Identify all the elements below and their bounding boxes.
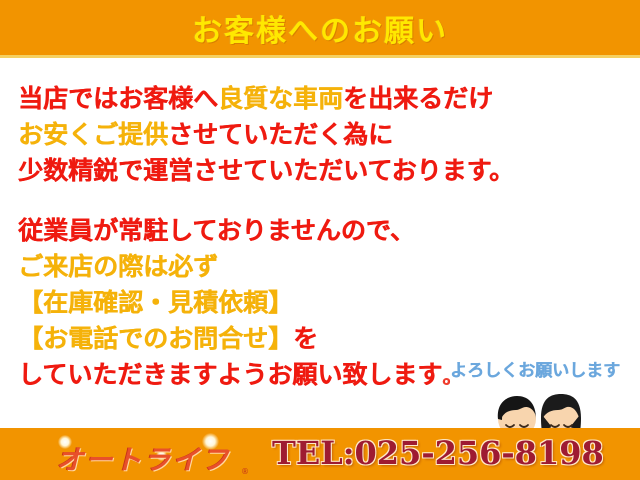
dealer-logo[interactable]: オートライフ ® — [36, 436, 251, 474]
notice-para2-line-5-segment-1: していただきますようお願い致します — [18, 360, 442, 389]
notice-para2-line-2: ご来店の際は必ず — [18, 249, 618, 285]
notice-para1-line-3: 少数精鋭で運営させていただいております。 — [18, 153, 618, 189]
notice-para1-line-2-segment-2: させていただく為に — [168, 120, 393, 149]
notice-para1-line-3-segment-1: 少数精鋭で運営させていただいております。 — [18, 156, 514, 185]
notice-para1-line-2: お安くご提供させていただく為に — [18, 117, 618, 153]
notice-para2-line-1-segment-1: 従業員が常駐しておりませんので、 — [18, 216, 415, 245]
notice-para2-line-1: 従業員が常駐しておりませんので、 — [18, 213, 618, 249]
logo-registered-mark: ® — [241, 467, 249, 476]
notice-para1-line-1-segment-1: 当店ではお客様へ — [18, 84, 218, 113]
footer-banner: オートライフ ® TEL:025-256-8198 — [0, 428, 640, 480]
notice-page: お客様へのお願い 当店ではお客様へ良質な車両を出来るだけお安くご提供させていただ… — [0, 0, 640, 480]
notice-para2-line-2-segment-1: ご来店の際は必ず — [18, 252, 218, 281]
notice-para1-line-2-segment-1: お安くご提供 — [18, 120, 168, 149]
notice-para1-line-1-segment-3: を出来るだけ — [343, 84, 493, 113]
notice-para2-line-3-segment-1: 【在庫確認・見積依頼】 — [18, 288, 293, 317]
notice-para1-line-1: 当店ではお客様へ良質な車両を出来るだけ — [18, 81, 618, 117]
notice-body: 当店ではお客様へ良質な車両を出来るだけお安くご提供させていただく為に少数精鋭で運… — [0, 58, 640, 428]
greeting-text: よろしくお願いします — [440, 356, 630, 381]
notice-para2-line-4-segment-2: を — [293, 324, 318, 353]
page-title: お客様へのお願い — [192, 6, 448, 50]
header-banner: お客様へのお願い — [0, 0, 640, 55]
logo-text: オートライフ — [36, 438, 251, 477]
paragraph-one: 当店ではお客様へ良質な車両を出来るだけお安くご提供させていただく為に少数精鋭で運… — [18, 81, 618, 189]
phone-number[interactable]: TEL:025-256-8198 — [272, 434, 604, 472]
notice-para1-line-1-segment-2: 良質な車両 — [218, 84, 343, 113]
notice-para2-line-4-segment-1: 【お電話でのお問合せ】 — [18, 324, 293, 353]
